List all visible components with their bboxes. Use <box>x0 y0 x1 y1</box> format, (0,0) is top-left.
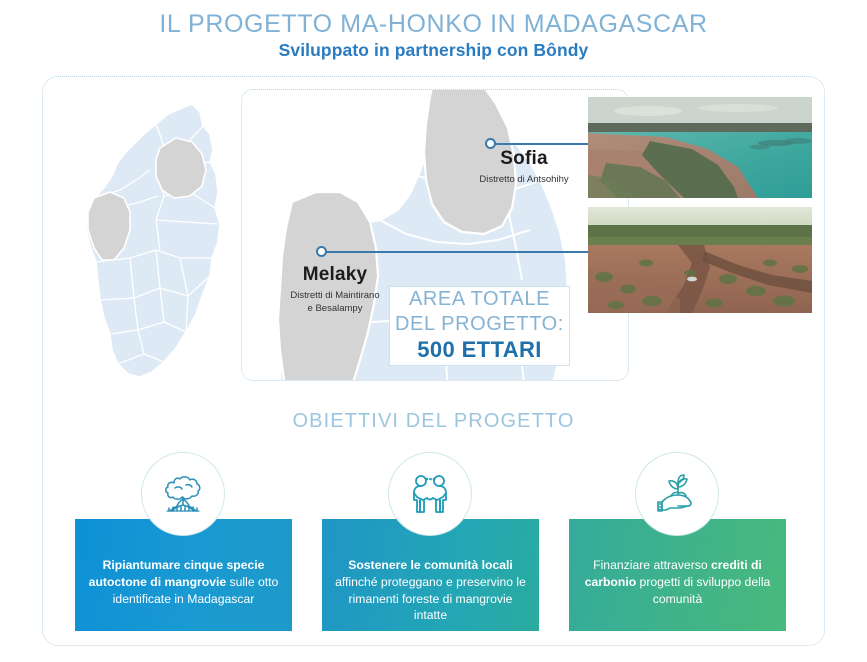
page-title: IL PROGETTO MA-HONKO IN MADAGASCAR <box>0 10 867 39</box>
location-marker-sofia <box>485 138 496 149</box>
hand-seedling-icon <box>650 467 704 521</box>
area-line-2: DEL PROGETTO: <box>395 312 564 336</box>
objective-icon-circle-3 <box>635 452 719 536</box>
objective-card-3-text: Finanziare attraverso crediti di carboni… <box>581 557 774 607</box>
location-marker-melaky <box>316 246 327 257</box>
objective-card-2-text: Sostenere le comunità locali affinché pr… <box>334 557 527 624</box>
infographic-root: IL PROGETTO MA-HONKO IN MADAGASCAR Svilu… <box>0 0 867 662</box>
connector-line-melaky <box>323 251 589 253</box>
objective-icon-circle-1 <box>141 452 225 536</box>
mangrove-tree-icon <box>156 467 210 521</box>
connector-line-sofia <box>492 143 590 145</box>
page-subtitle: Sviluppato in partnership con Bôndy <box>0 40 867 61</box>
area-line-1: AREA TOTALE <box>409 287 550 311</box>
area-total-box: AREA TOTALE DEL PROGETTO: 500 ETTARI <box>389 286 570 366</box>
map-detail-panel: Sofia Distretto di Antsohihy Melaky Dist… <box>241 89 629 381</box>
handshake-people-icon <box>403 467 457 521</box>
objective-card-1-text: Ripiantumare cinque specie autoctone di … <box>87 557 280 607</box>
photo-coastal-mangrove <box>588 97 812 198</box>
area-value: 500 ETTARI <box>417 336 542 365</box>
objectives-heading: OBIETTIVI DEL PROGETTO <box>0 410 867 433</box>
region-name-melaky: Melaky <box>241 265 435 286</box>
objective-icon-circle-2 <box>388 452 472 536</box>
photo-dry-terrain <box>588 207 812 313</box>
